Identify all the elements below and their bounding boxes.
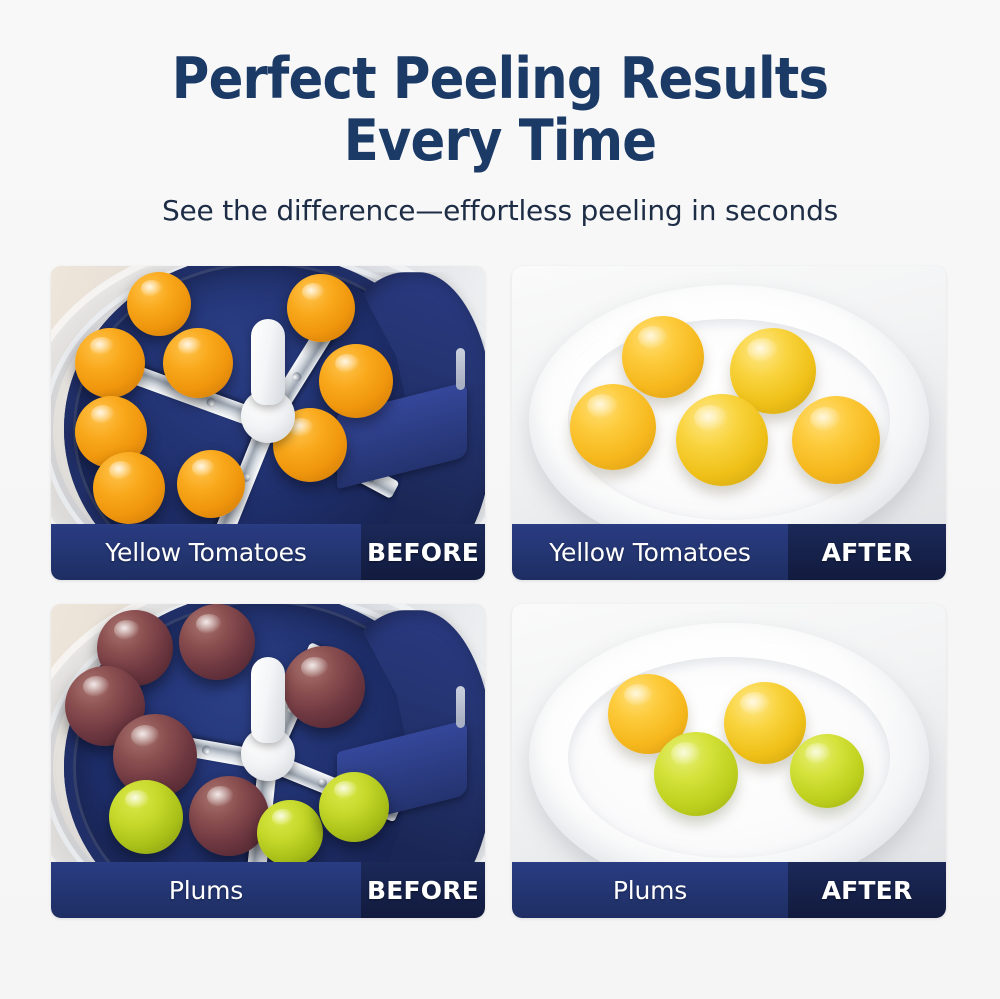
fruit-peeled-plum	[654, 732, 738, 816]
comparison-card-plums-after[interactable]: Plums AFTER	[512, 604, 946, 918]
fruit-peeled-tomato	[570, 384, 656, 470]
card-label-stage: AFTER	[788, 862, 946, 918]
fruit-peeled-plum	[724, 682, 806, 764]
comparison-card-yellow-tomatoes-after[interactable]: Yellow Tomatoes AFTER	[512, 266, 946, 580]
peeler-hub-stem	[251, 319, 285, 405]
fruit-peeled-tomato	[676, 394, 768, 486]
fruit-tomato	[75, 328, 145, 398]
peeler-vent-slot	[456, 348, 465, 390]
fruit-plum-green	[109, 780, 183, 854]
fruit-peeled-tomato	[622, 316, 704, 398]
fruit-peeled-tomato	[792, 396, 880, 484]
comparison-card-plums-before[interactable]: Plums BEFORE	[51, 604, 485, 918]
blade-rivet	[205, 397, 217, 409]
card-label-stage: BEFORE	[361, 524, 485, 580]
fruit-tomato	[93, 452, 165, 524]
page-title-line-1: Perfect Peeling Results	[0, 48, 1000, 110]
page-title-line-2: Every Time	[0, 110, 1000, 172]
page-title: Perfect Peeling Results Every Time	[0, 48, 1000, 172]
card-label-name: Yellow Tomatoes	[51, 524, 361, 580]
peeler-vent-slot	[456, 686, 465, 728]
fruit-peeled-plum	[790, 734, 864, 808]
fruit-plum-green	[257, 800, 323, 866]
fruit-tomato	[127, 272, 191, 336]
card-label-bar: Yellow Tomatoes BEFORE	[51, 524, 485, 580]
fruit-plum	[179, 604, 255, 680]
card-label-stage: AFTER	[788, 524, 946, 580]
fruit-tomato	[287, 274, 355, 342]
blade-rivet	[201, 745, 211, 755]
card-label-name: Yellow Tomatoes	[512, 524, 788, 580]
card-label-name: Plums	[51, 862, 361, 918]
card-label-bar: Yellow Tomatoes AFTER	[512, 524, 946, 580]
header: Perfect Peeling Results Every Time See t…	[0, 0, 1000, 228]
card-label-stage: BEFORE	[361, 862, 485, 918]
page-subtitle: See the difference—effortless peeling in…	[0, 194, 1000, 228]
fruit-tomato	[319, 344, 393, 418]
comparison-card-yellow-tomatoes-before[interactable]: Yellow Tomatoes BEFORE	[51, 266, 485, 580]
blade-rivet	[291, 371, 303, 383]
fruit-plum-green	[319, 772, 389, 842]
peeler-hub-stem	[251, 657, 285, 743]
card-label-name: Plums	[512, 862, 788, 918]
card-label-bar: Plums AFTER	[512, 862, 946, 918]
fruit-plum	[283, 646, 365, 728]
fruit-tomato	[163, 328, 233, 398]
comparison-grid: Yellow Tomatoes BEFORE Yellow Tomatoes	[51, 266, 946, 918]
promo-banner: Perfect Peeling Results Every Time See t…	[0, 0, 1000, 999]
fruit-plum	[189, 776, 269, 856]
card-label-bar: Plums BEFORE	[51, 862, 485, 918]
fruit-tomato	[177, 450, 245, 518]
